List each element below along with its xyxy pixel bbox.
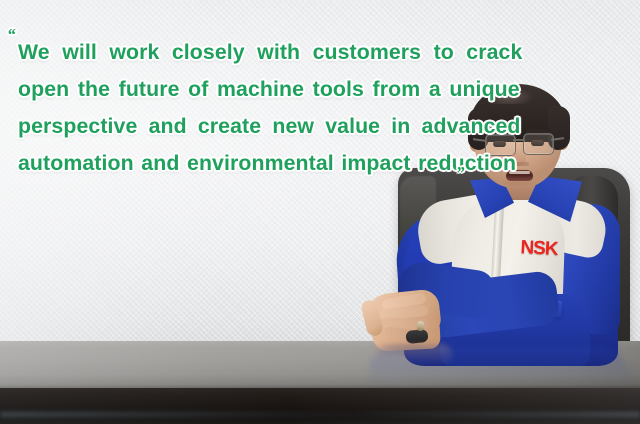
desk-edge-glint [0, 412, 640, 417]
photo-stage: NSK [0, 0, 640, 424]
subject-finger-ring [416, 321, 424, 332]
quote-line-3: perspective and create new value in adva… [18, 108, 458, 145]
subject-chin-shadow [500, 182, 538, 190]
quote-line-1: We will work closely with customers to c… [18, 34, 458, 71]
closing-quotation-mark: ” [456, 164, 465, 181]
glasses-bridge [513, 139, 524, 141]
glasses-right-lens [523, 133, 554, 155]
quote-line-2: open the future of machine tools from a … [18, 71, 458, 108]
desk-edge-reflection [0, 388, 640, 424]
quote-text-block: We will work closely with customers to c… [18, 34, 462, 182]
nsk-logo: NSK [512, 237, 565, 262]
desk-reflection-of-hands [372, 344, 452, 366]
quote-line-4: automation and environmental impact redu… [18, 145, 458, 182]
opening-quotation-mark: “ [7, 26, 16, 43]
